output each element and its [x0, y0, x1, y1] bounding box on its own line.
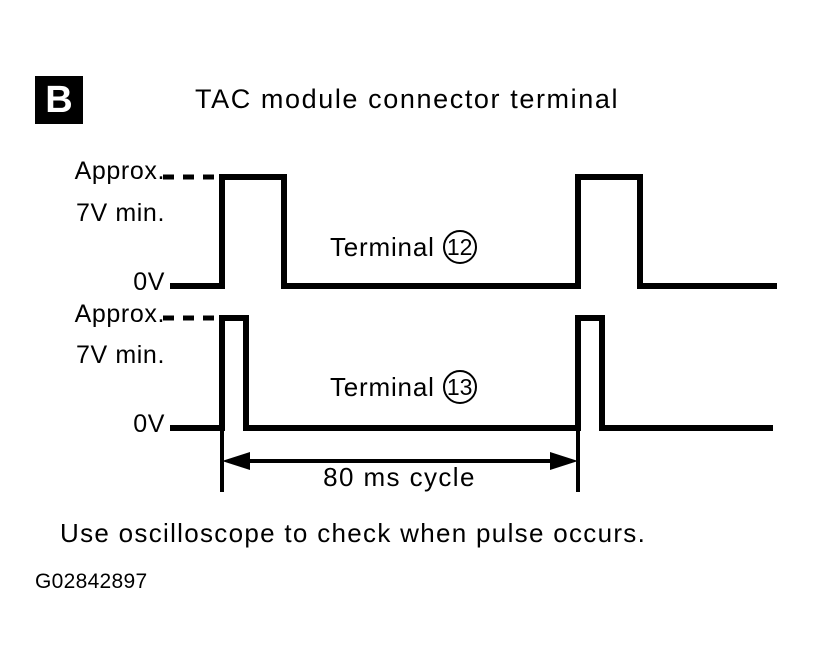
cycle-dimension-arrowhead-right: [550, 452, 578, 470]
waveform-figure: B TAC module connector terminal Approx. …: [0, 0, 813, 670]
waveform-1-trace: [170, 177, 777, 286]
cycle-dimension-arrowhead-left: [222, 452, 250, 470]
waveform-graphics: [0, 0, 813, 670]
waveform-2-trace: [170, 318, 773, 428]
